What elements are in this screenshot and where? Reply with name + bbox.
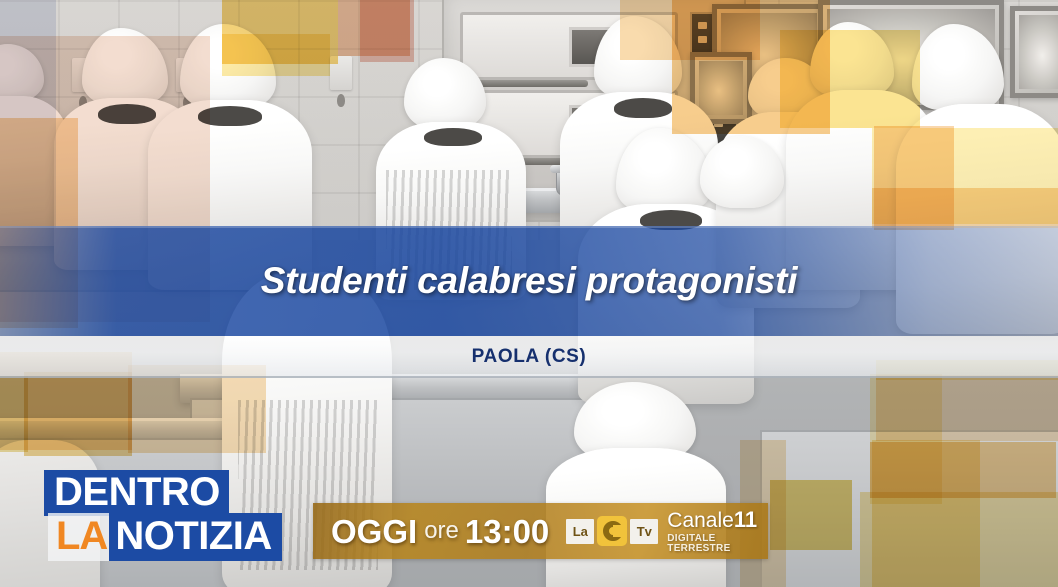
channel-number: 11 xyxy=(734,507,757,532)
program-logo-row-top: DENTRO xyxy=(44,470,229,516)
channel-platform: DIGITALE TERRESTRE xyxy=(667,534,768,554)
airtime-at-label: ore xyxy=(424,519,459,543)
headline-text: Studenti calabresi protagonisti xyxy=(261,260,798,302)
program-logo-la: LA xyxy=(48,513,109,561)
location-text: PAOLA (CS) xyxy=(472,346,587,368)
overlay-rect-red xyxy=(360,0,414,62)
network-logo-c-icon xyxy=(597,516,627,546)
overlay-rect-yellow xyxy=(222,34,330,76)
program-logo-row-bottom: LA NOTIZIA xyxy=(48,513,282,561)
overlay-rect-gold xyxy=(860,492,1058,587)
network-logo-la: La xyxy=(566,519,594,544)
channel-name-line: Canale11 xyxy=(667,509,757,532)
overlay-rect-gold xyxy=(0,376,28,452)
program-logo-notizia: NOTIZIA xyxy=(109,513,281,561)
overlay-rect-orange xyxy=(874,126,954,230)
oven-handle xyxy=(476,80,588,87)
airtime-bar: OGGI ore 13:00 La Tv Canale11 DIGITALE T… xyxy=(313,503,768,559)
channel-name: Canale xyxy=(667,509,734,532)
wall-picture xyxy=(1010,6,1058,98)
overlay-rect-gold xyxy=(24,372,132,456)
headline-band: Studenti calabresi protagonisti xyxy=(0,226,1058,336)
program-logo-dentro: DENTRO xyxy=(54,470,220,514)
airtime-day: OGGI xyxy=(331,515,417,548)
network-logo-tv: Tv xyxy=(630,519,658,544)
location-band: PAOLA (CS) xyxy=(0,336,1058,378)
airtime-time: 13:00 xyxy=(465,515,549,548)
overlay-rect-orange xyxy=(128,365,266,453)
network-logo[interactable]: La Tv xyxy=(566,516,658,546)
channel-info: Canale11 DIGITALE TERRESTRE xyxy=(667,509,768,554)
overlay-rect-yellow xyxy=(780,30,920,128)
broadcast-promo-graphic: Studenti calabresi protagonisti PAOLA (C… xyxy=(0,0,1058,587)
program-logo[interactable]: DENTRO LA NOTIZIA xyxy=(44,470,282,561)
overlay-rect-orange xyxy=(870,442,1056,498)
